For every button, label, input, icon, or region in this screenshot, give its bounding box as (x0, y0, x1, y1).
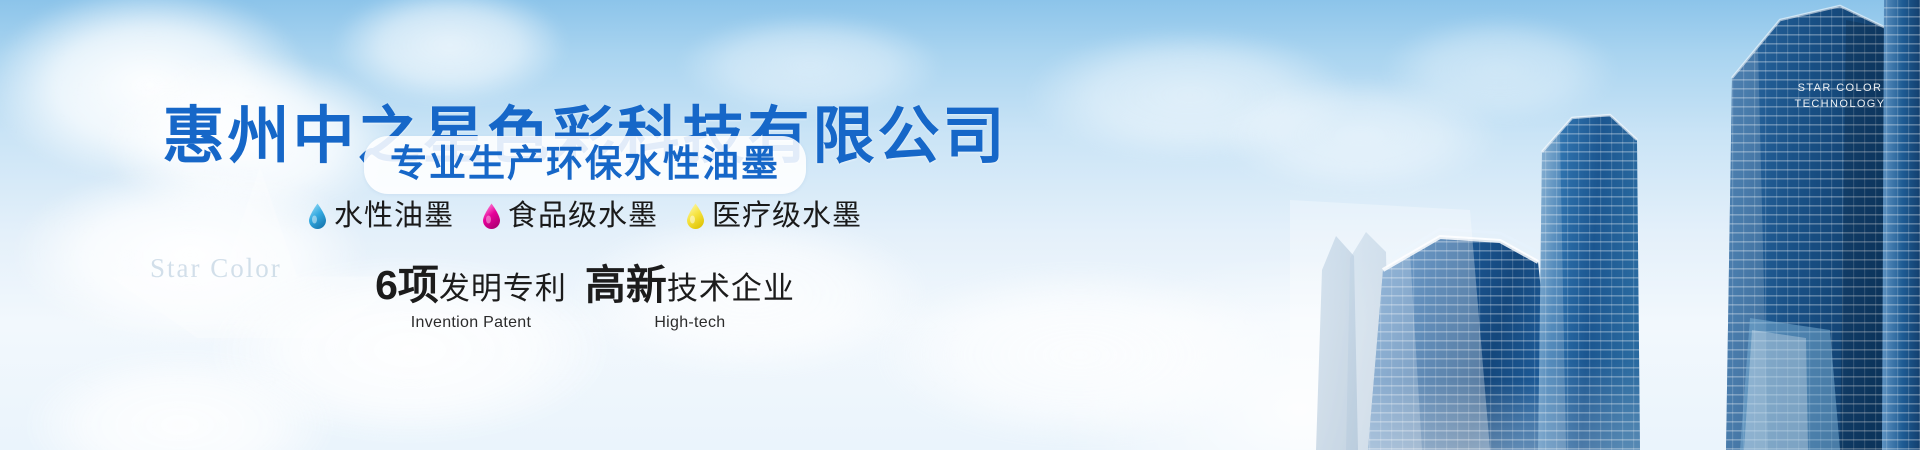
feature-item: 医疗级水墨 (686, 200, 862, 232)
badge-rest-text: 技术企业 (667, 266, 795, 312)
subtitle-row: 专业生产环保水性油墨 (0, 136, 1170, 194)
tower-label-line2: TECHNOLOGY (1780, 96, 1900, 112)
badge-chinese-text: 6项 发明专利 (375, 262, 567, 312)
company-hero-banner: Star Color (0, 0, 1920, 450)
badge-english-text: Invention Patent (375, 313, 567, 333)
badge-invention-patent: 6项 发明专利 Invention Patent (375, 262, 567, 333)
badge-strong-text: 高新 (585, 262, 667, 308)
feature-label: 食品级水墨 (508, 200, 658, 232)
badge-english-text: High-tech (585, 313, 795, 333)
banner-content: 惠州中之星色彩科技有限公司 专业生产环保水性油墨 (0, 0, 1170, 450)
badge-rest-text: 发明专利 (439, 266, 567, 312)
feature-list: 水性油墨 (0, 200, 1170, 232)
water-drop-icon (482, 203, 501, 229)
feature-label: 医疗级水墨 (712, 200, 862, 232)
tower-label-line1: STAR COLOR (1780, 80, 1900, 96)
skyscraper-photo (1140, 0, 1920, 450)
water-drop-icon (308, 203, 327, 229)
cloud-shape (1180, 60, 1540, 210)
subtitle-badge: 专业生产环保水性油墨 (364, 136, 806, 194)
cloud-shape (1350, 0, 1650, 140)
badge-high-tech: 高新 技术企业 High-tech (585, 262, 795, 333)
feature-item: 食品级水墨 (482, 200, 658, 232)
badge-strong-text: 6项 (375, 262, 439, 308)
credential-badges: 6项 发明专利 Invention Patent 高新 技术企业 High-te… (0, 262, 1170, 333)
badge-chinese-text: 高新 技术企业 (585, 262, 795, 312)
feature-label: 水性油墨 (334, 200, 454, 232)
feature-item: 水性油墨 (308, 200, 454, 232)
water-drop-icon (686, 203, 705, 229)
tower-brand-label: STAR COLOR TECHNOLOGY (1780, 80, 1900, 112)
